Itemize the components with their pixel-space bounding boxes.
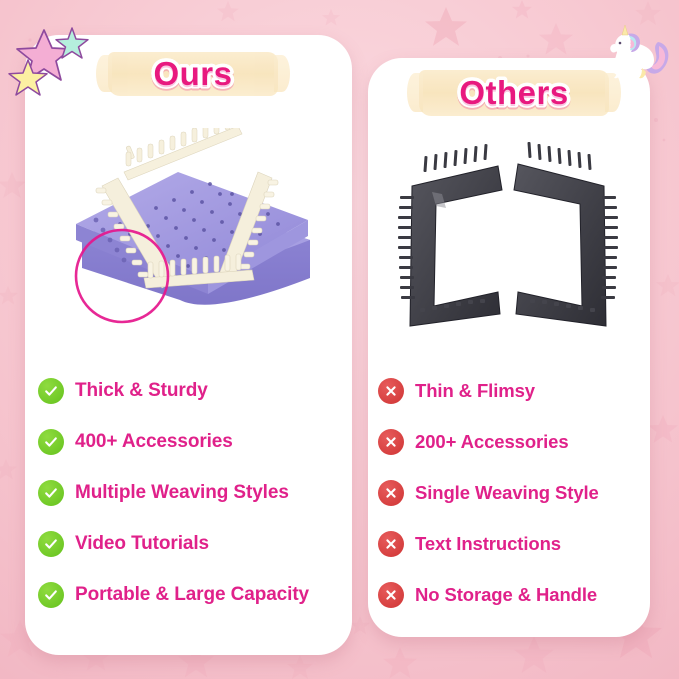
svg-text:Ours: Ours	[153, 55, 232, 92]
list-item: Text Instructions	[378, 518, 648, 569]
list-item: 200+ Accessories	[378, 416, 648, 467]
list-item: Multiple Weaving Styles	[38, 467, 348, 518]
list-item: 400+ Accessories	[38, 416, 348, 467]
cross-icon	[378, 429, 404, 455]
feature-label: Portable & Large Capacity	[75, 584, 309, 606]
unicorn-decoration	[598, 22, 674, 84]
feature-label: Text Instructions	[415, 533, 561, 555]
list-item: Single Weaving Style	[378, 467, 648, 518]
cross-icon	[378, 480, 404, 506]
check-icon	[38, 429, 64, 455]
feature-label: 400+ Accessories	[75, 431, 233, 453]
cross-icon	[378, 378, 404, 404]
feature-label: No Storage & Handle	[415, 584, 597, 606]
check-icon	[38, 480, 64, 506]
svg-text:Others: Others	[459, 74, 568, 111]
cross-icon	[378, 531, 404, 557]
product-image-others	[390, 130, 630, 330]
list-item: Thin & Flimsy	[378, 365, 648, 416]
list-item: Video Tutorials	[38, 518, 348, 569]
feature-label: Thin & Flimsy	[415, 380, 535, 402]
banner-others: Others Others	[419, 70, 609, 116]
comparison-infographic: Ours Ours	[0, 0, 679, 679]
list-item: No Storage & Handle	[378, 569, 648, 620]
check-icon	[38, 531, 64, 557]
feature-label: Multiple Weaving Styles	[75, 482, 289, 504]
product-image-ours	[62, 128, 324, 328]
feature-list-others: Thin & Flimsy 200+ Accessories Single We…	[378, 365, 648, 620]
feature-label: Video Tutorials	[75, 533, 209, 555]
feature-list-ours: Thick & Sturdy 400+ Accessories Multiple…	[38, 365, 348, 620]
check-icon	[38, 582, 64, 608]
list-item: Portable & Large Capacity	[38, 569, 348, 620]
title-others: Others Others	[419, 69, 609, 117]
feature-label: Single Weaving Style	[415, 482, 599, 504]
title-ours: Ours Ours	[108, 51, 278, 97]
cross-icon	[378, 582, 404, 608]
feature-label: 200+ Accessories	[415, 431, 569, 453]
stars-decoration	[4, 16, 90, 100]
banner-ours: Ours Ours	[108, 52, 278, 96]
list-item: Thick & Sturdy	[38, 365, 348, 416]
feature-label: Thick & Sturdy	[75, 380, 208, 402]
check-icon	[38, 378, 64, 404]
